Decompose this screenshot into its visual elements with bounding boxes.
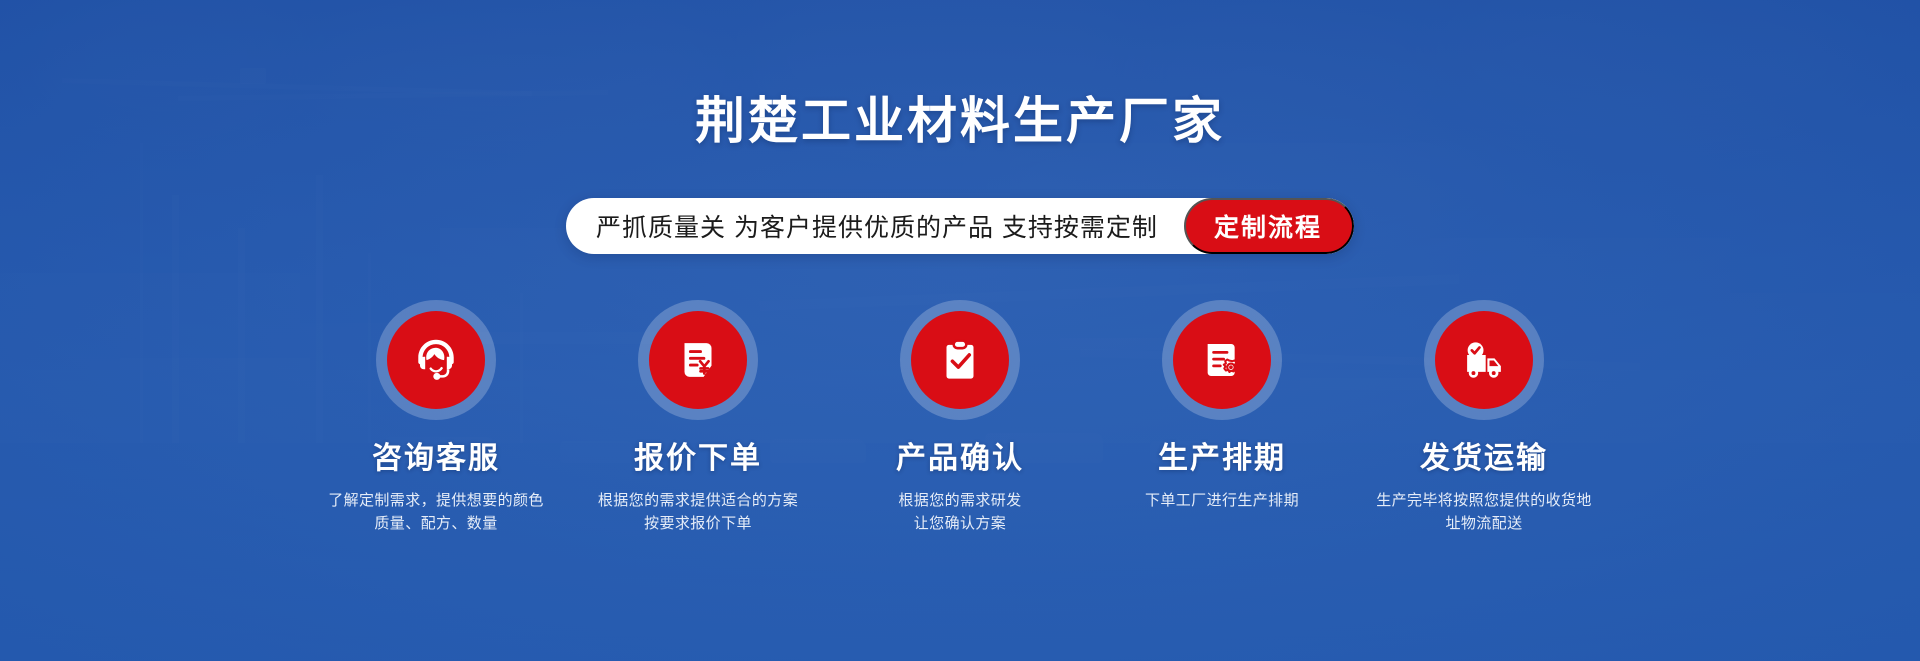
step-description-line: 生产完毕将按照您提供的收货地 [1376,489,1592,512]
step-description-line: 址物流配送 [1376,512,1592,535]
step-description-line: 让您确认方案 [898,512,1021,535]
slogan-pill-wrapper: 严抓质量关 为客户提供优质的产品 支持按需定制 定制流程 [0,198,1920,254]
headset-support-icon [409,333,463,387]
step-item[interactable]: 发货运输 生产完毕将按照您提供的收货地 址物流配送 [1353,300,1615,536]
step-icon-disc [649,311,747,409]
step-icon-disc [387,311,485,409]
promo-banner: 荆楚工业材料生产厂家 严抓质量关 为客户提供优质的产品 支持按需定制 定制流程 [0,0,1920,661]
step-description: 生产完毕将按照您提供的收货地 址物流配送 [1376,489,1592,536]
step-description-line: 质量、配方、数量 [328,512,544,535]
step-icon-disc [1435,311,1533,409]
slogan-text: 严抓质量关 为客户提供优质的产品 支持按需定制 [596,208,1184,244]
step-description: 根据您的需求研发 让您确认方案 [898,489,1021,536]
step-description-line: 根据您的需求研发 [898,489,1021,512]
slogan-pill: 严抓质量关 为客户提供优质的产品 支持按需定制 定制流程 [566,198,1354,254]
banner-content: 荆楚工业材料生产厂家 严抓质量关 为客户提供优质的产品 支持按需定制 定制流程 [0,0,1920,661]
step-icon-ring[interactable] [638,300,758,420]
step-description: 了解定制需求，提供想要的颜色 质量、配方、数量 [328,489,544,536]
step-title: 报价下单 [634,442,762,475]
document-gear-icon [1195,333,1249,387]
clipboard-check-icon [933,333,987,387]
delivery-truck-check-icon [1457,333,1511,387]
step-description-line: 了解定制需求，提供想要的颜色 [328,489,544,512]
process-steps: 咨询客服 了解定制需求，提供想要的颜色 质量、配方、数量 [0,300,1920,536]
step-title: 生产排期 [1158,442,1286,475]
quotation-invoice-yuan-icon [671,333,725,387]
step-title: 产品确认 [896,442,1024,475]
step-title: 咨询客服 [372,442,500,475]
step-icon-disc [1173,311,1271,409]
step-icon-disc [911,311,1009,409]
custom-process-button[interactable]: 定制流程 [1184,198,1354,254]
step-description: 下单工厂进行生产排期 [1145,489,1299,512]
step-description: 根据您的需求提供适合的方案 按要求报价下单 [598,489,798,536]
step-item[interactable]: 产品确认 根据您的需求研发 让您确认方案 [829,300,1091,536]
step-icon-ring[interactable] [1162,300,1282,420]
step-description-line: 按要求报价下单 [598,512,798,535]
step-icon-ring[interactable] [1424,300,1544,420]
step-item[interactable]: 报价下单 根据您的需求提供适合的方案 按要求报价下单 [567,300,829,536]
step-item[interactable]: 咨询客服 了解定制需求，提供想要的颜色 质量、配方、数量 [305,300,567,536]
step-title: 发货运输 [1420,442,1548,475]
step-icon-ring[interactable] [900,300,1020,420]
step-icon-ring[interactable] [376,300,496,420]
step-description-line: 根据您的需求提供适合的方案 [598,489,798,512]
page-title: 荆楚工业材料生产厂家 [0,96,1920,146]
step-item[interactable]: 生产排期 下单工厂进行生产排期 [1091,300,1353,536]
step-description-line: 下单工厂进行生产排期 [1145,489,1299,512]
